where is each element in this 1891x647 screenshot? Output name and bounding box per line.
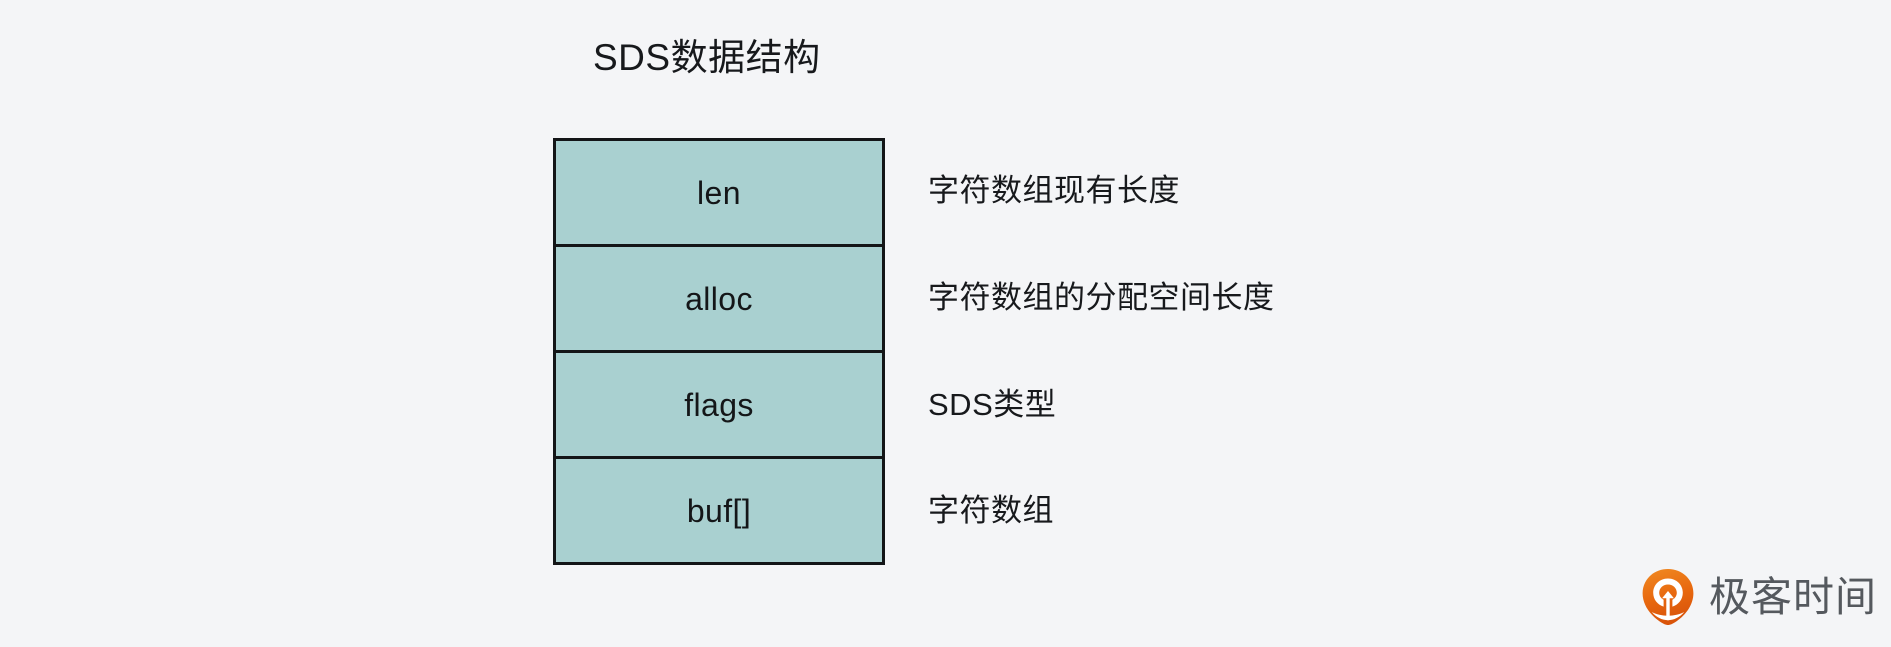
struct-field-row: buf[] <box>556 459 882 562</box>
annotation-text: 字符数组 <box>928 492 1054 531</box>
annotation-text: 字符数组现有长度 <box>928 172 1180 211</box>
watermark-label: 极客时间 <box>1709 577 1877 618</box>
struct-field-name: len <box>697 177 741 209</box>
page-title: SDS数据结构 <box>593 34 821 82</box>
annotation-row: SDS类型 <box>928 352 1548 459</box>
annotation-row: 字符数组现有长度 <box>928 138 1548 245</box>
struct-field-name: alloc <box>685 283 753 315</box>
annotation-row: 字符数组 <box>928 458 1548 565</box>
annotation-list: 字符数组现有长度 字符数组的分配空间长度 SDS类型 字符数组 <box>928 138 1548 565</box>
struct-field-name: buf[] <box>687 495 751 527</box>
annotation-text: 字符数组的分配空间长度 <box>928 279 1275 318</box>
struct-field-row: len <box>556 141 882 247</box>
sds-struct-table: len alloc flags buf[] <box>553 138 885 565</box>
watermark: 极客时间 <box>1640 568 1877 626</box>
annotation-text: SDS类型 <box>928 386 1056 425</box>
geektime-pin-logo-icon <box>1640 568 1696 626</box>
struct-field-row: alloc <box>556 247 882 353</box>
struct-field-row: flags <box>556 353 882 459</box>
annotation-row: 字符数组的分配空间长度 <box>928 245 1548 352</box>
diagram-canvas: SDS数据结构 len alloc flags buf[] 字符数组现有长度 字… <box>0 0 1891 647</box>
struct-field-name: flags <box>684 389 754 421</box>
